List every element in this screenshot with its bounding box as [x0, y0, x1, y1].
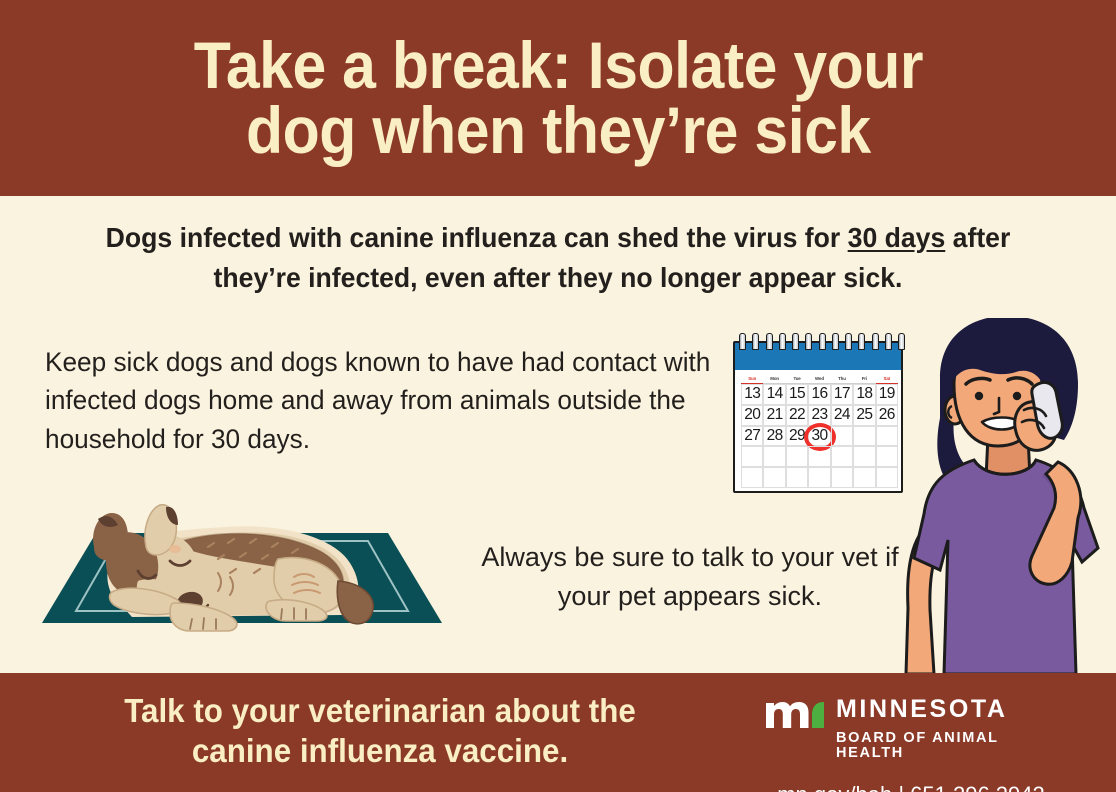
calendar-date-grid: 131415161718192021222324252627282930 [741, 384, 898, 488]
calendar-date-number: 30 [811, 427, 827, 445]
calendar-empty-cell [786, 467, 808, 488]
logo-state-name: MINNESOTA [836, 697, 1066, 722]
isolation-instructions-paragraph: Keep sick dogs and dogs known to have ha… [45, 343, 724, 458]
calendar-body: SunMonTueWedThuFriSat 131415161718192021… [733, 341, 903, 493]
calendar-day-header: Sun [741, 375, 763, 384]
calendar-empty-cell [853, 446, 875, 467]
calendar-empty-cell [831, 426, 853, 447]
logo-wordmark: MINNESOTA BOARD OF ANIMAL HEALTH [836, 695, 1066, 760]
calendar-date-cell[interactable]: 26 [876, 405, 898, 426]
logo-row: MINNESOTA BOARD OF ANIMAL HEALTH [766, 695, 1066, 760]
footer-call-to-action: Talk to your veterinarian about the cani… [76, 691, 684, 772]
calendar-empty-cell [808, 446, 830, 467]
calendar-date-cell[interactable]: 16 [808, 384, 830, 405]
calendar-date-number: 19 [879, 385, 895, 403]
calendar-day-header: Thu [831, 375, 853, 384]
woman-on-phone-illustration [900, 318, 1116, 674]
calendar-empty-cell [876, 467, 898, 488]
calendar-date-cell[interactable]: 14 [763, 384, 785, 405]
calendar-ring [805, 333, 812, 350]
vet-advice-paragraph: Always be sure to talk to your vet if yo… [465, 538, 915, 616]
calendar-empty-cell [853, 467, 875, 488]
minnesota-mn-logo-icon [766, 695, 824, 729]
calendar-date-number: 29 [789, 427, 805, 445]
lead-statement: Dogs infected with canine influenza can … [66, 218, 1050, 298]
calendar-illustration: SunMonTueWedThuFriSat 131415161718192021… [733, 333, 911, 496]
calendar-date-cell[interactable]: 27 [741, 426, 763, 447]
calendar-date-cell[interactable]: 28 [763, 426, 785, 447]
contact-separator: | [898, 782, 904, 792]
calendar-date-number: 20 [744, 406, 760, 424]
calendar-empty-cell [876, 426, 898, 447]
calendar-date-number: 25 [856, 406, 872, 424]
calendar-day-header: Fri [853, 375, 875, 384]
website-link[interactable]: mn.gov/bah [777, 782, 892, 792]
calendar-date-number: 15 [789, 385, 805, 403]
calendar-empty-cell [831, 446, 853, 467]
calendar-date-number: 14 [767, 385, 783, 403]
sleeping-dog-illustration [42, 485, 442, 635]
calendar-ring [766, 333, 773, 350]
lead-emphasis-30-days: 30 days [848, 222, 946, 253]
calendar-empty-cell [786, 446, 808, 467]
calendar-empty-cell [831, 467, 853, 488]
calendar-ring [819, 333, 826, 350]
calendar-date-cell[interactable]: 21 [763, 405, 785, 426]
calendar-date-number: 13 [744, 385, 760, 403]
calendar-empty-cell [741, 467, 763, 488]
calendar-date-cell[interactable]: 22 [786, 405, 808, 426]
calendar-empty-cell [876, 446, 898, 467]
calendar-date-number: 21 [767, 406, 783, 424]
calendar-spiral-binding [739, 333, 905, 351]
calendar-empty-cell [808, 467, 830, 488]
calendar-ring [739, 333, 746, 350]
agency-logo-block[interactable]: MINNESOTA BOARD OF ANIMAL HEALTH mn.gov/… [766, 695, 1066, 792]
calendar-empty-cell [763, 467, 785, 488]
calendar-ring [898, 333, 905, 350]
calendar-empty-cell [853, 426, 875, 447]
infographic-poster: Take a break: Isolate your dog when they… [0, 0, 1116, 792]
calendar-ring [752, 333, 759, 350]
calendar-date-cell[interactable]: 25 [853, 405, 875, 426]
calendar-date-number: 17 [834, 385, 850, 403]
calendar-empty-cell [763, 446, 785, 467]
calendar-ring [872, 333, 879, 350]
header-band: Take a break: Isolate your dog when they… [0, 0, 1116, 196]
calendar-ring [858, 333, 865, 350]
footer-band: Talk to your veterinarian about the cani… [0, 673, 1116, 792]
calendar-date-number: 16 [811, 385, 827, 403]
calendar-date-number: 24 [834, 406, 850, 424]
calendar-date-number: 22 [789, 406, 805, 424]
page-title: Take a break: Isolate your dog when they… [157, 33, 960, 162]
calendar-ring [885, 333, 892, 350]
calendar-date-cell[interactable]: 24 [831, 405, 853, 426]
calendar-ring [832, 333, 839, 350]
calendar-date-number: 27 [744, 427, 760, 445]
calendar-ring [845, 333, 852, 350]
calendar-day-headers: SunMonTueWedThuFriSat [741, 375, 898, 384]
calendar-date-number: 18 [856, 385, 872, 403]
calendar-date-number: 26 [879, 406, 895, 424]
calendar-date-cell[interactable]: 15 [786, 384, 808, 405]
contact-line: mn.gov/bah | 651.296.2942 [766, 782, 1056, 792]
calendar-day-header: Sat [876, 375, 898, 384]
logo-department-name: BOARD OF ANIMAL HEALTH [836, 731, 1066, 760]
calendar-date-number: 23 [811, 406, 827, 424]
lead-text-part1: Dogs infected with canine influenza can … [106, 222, 848, 253]
phone-number[interactable]: 651.296.2942 [910, 782, 1045, 792]
calendar-ring [779, 333, 786, 350]
calendar-date-cell[interactable]: 23 [808, 405, 830, 426]
calendar-date-number: 28 [767, 427, 783, 445]
calendar-date-cell[interactable]: 29 [786, 426, 808, 447]
calendar-day-header: Wed [808, 375, 830, 384]
calendar-day-header: Mon [763, 375, 785, 384]
calendar-date-cell[interactable]: 20 [741, 405, 763, 426]
calendar-empty-cell [741, 446, 763, 467]
calendar-ring [792, 333, 799, 350]
calendar-date-cell[interactable]: 13 [741, 384, 763, 405]
calendar-date-cell[interactable]: 19 [876, 384, 898, 405]
calendar-day-header: Tue [786, 375, 808, 384]
calendar-date-cell[interactable]: 18 [853, 384, 875, 405]
calendar-date-cell[interactable]: 30 [808, 426, 830, 447]
calendar-grid-wrapper: SunMonTueWedThuFriSat 131415161718192021… [741, 375, 898, 489]
calendar-date-cell[interactable]: 17 [831, 384, 853, 405]
